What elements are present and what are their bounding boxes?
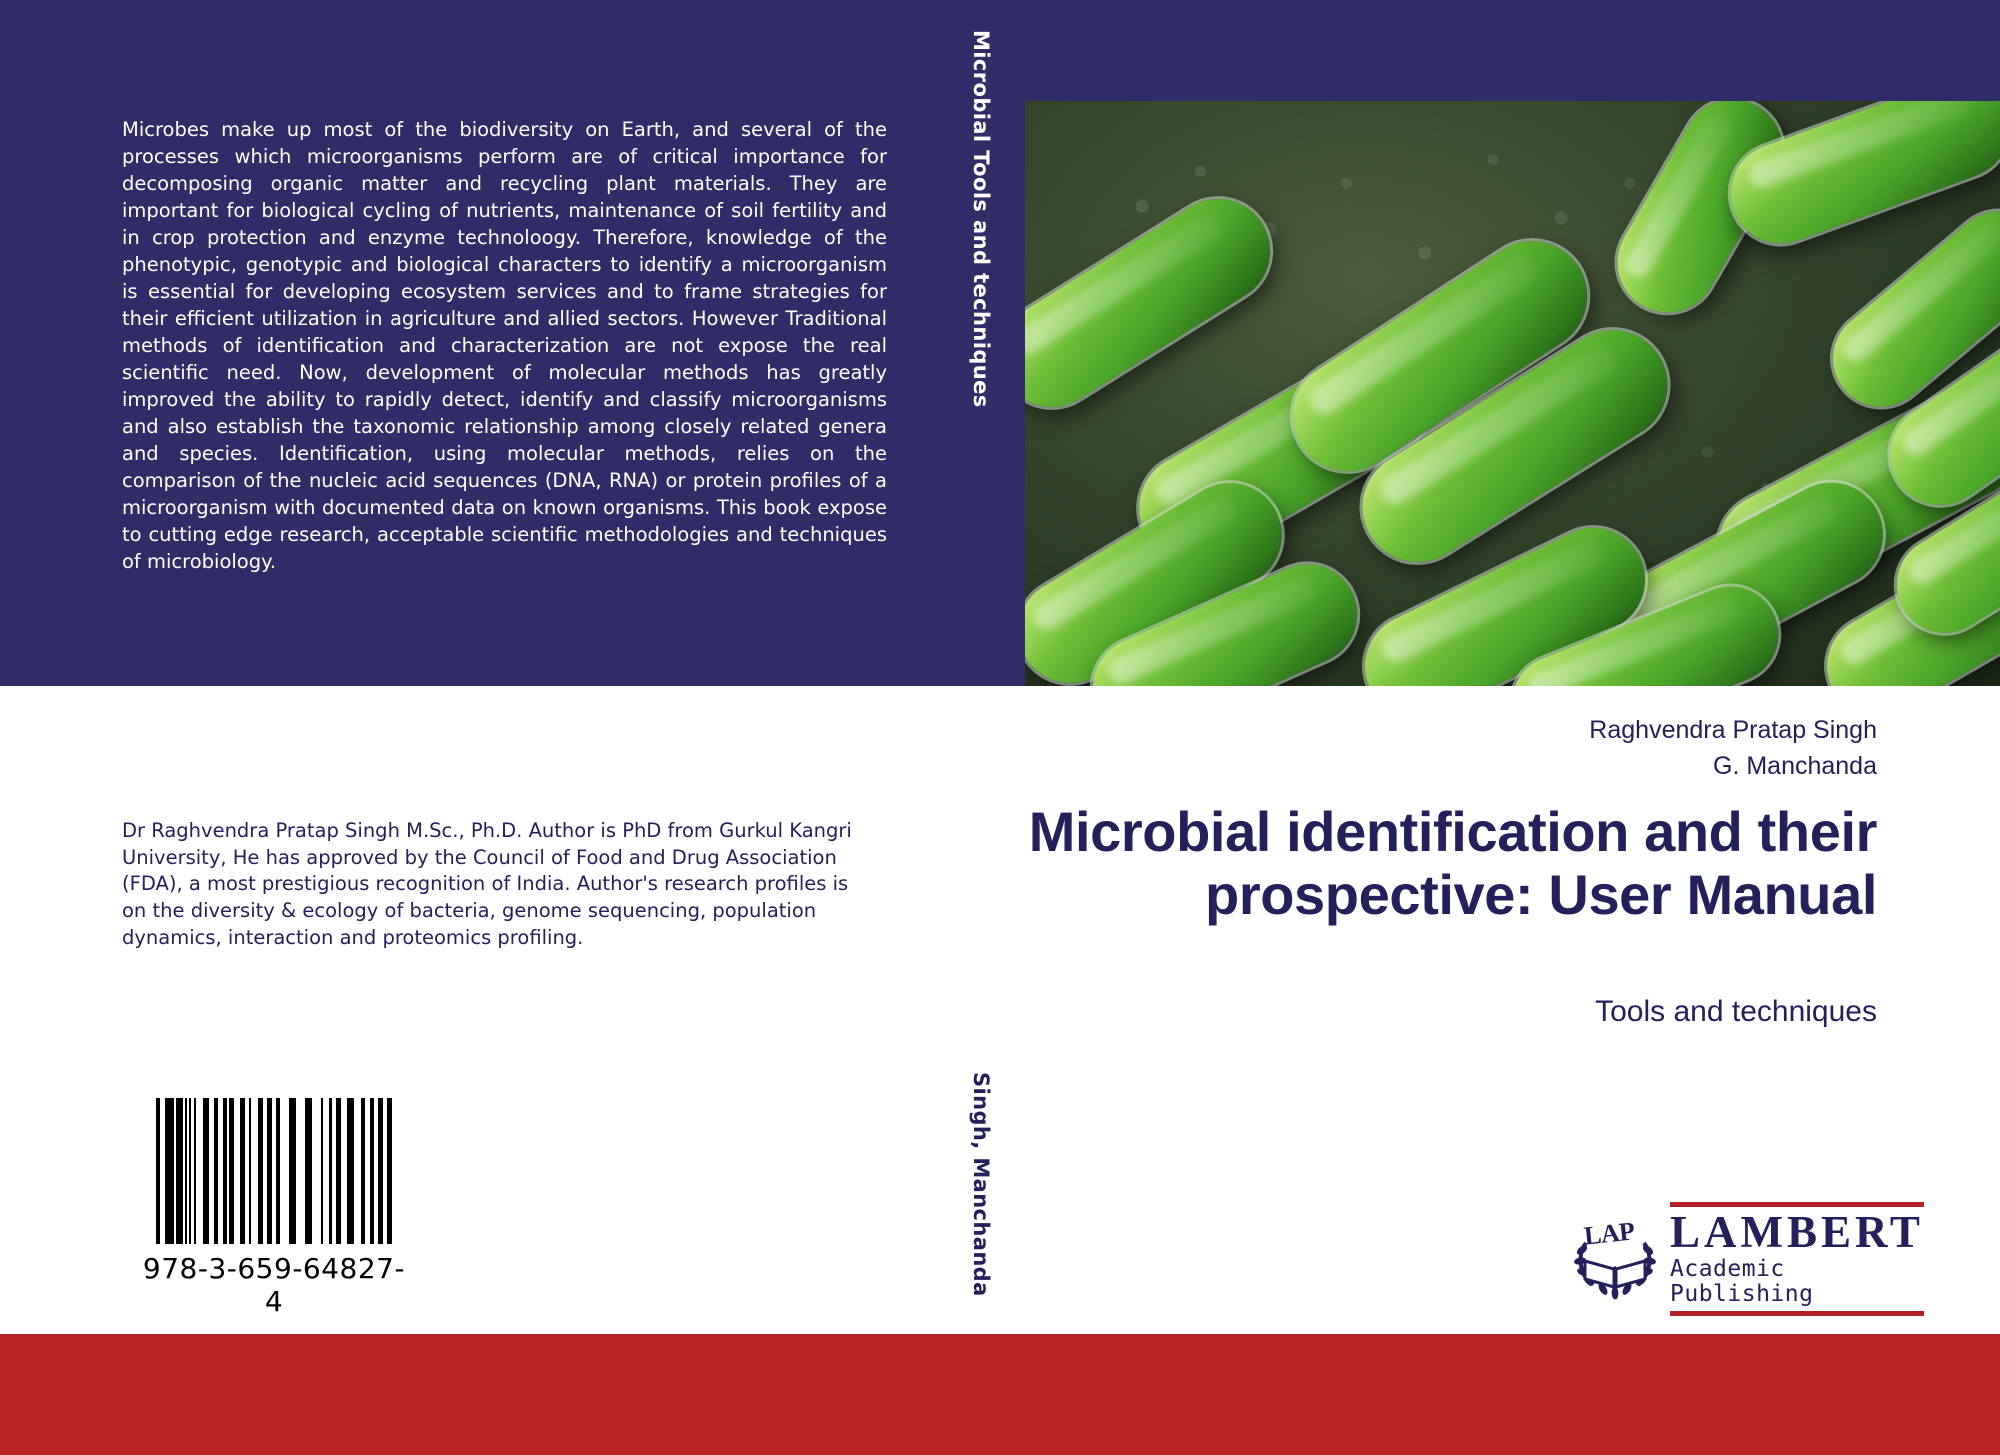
publisher-tagline: Academic Publishing xyxy=(1670,1257,1924,1308)
barcode-block: 978-3-659-64827-4 xyxy=(138,1098,428,1318)
logo-rule-bottom xyxy=(1670,1311,1924,1316)
front-cover-authors: Raghvendra Pratap Singh G. Manchanda xyxy=(997,712,1877,784)
lap-acronym: LAP xyxy=(1583,1216,1636,1251)
spine-title: Microbial Tools and techniques xyxy=(958,30,1004,460)
red-footer-band xyxy=(0,1334,2000,1455)
author-name-secondary: G. Manchanda xyxy=(997,748,1877,784)
publisher-logo: LAP xyxy=(1572,1215,1894,1303)
barcode-image xyxy=(138,1098,410,1244)
author-name-primary: Raghvendra Pratap Singh xyxy=(997,712,1877,748)
book-cover: Microbes make up most of the biodiversit… xyxy=(0,0,2000,1455)
cover-photo-bacteria xyxy=(1025,101,2000,686)
spine-authors: Singh, Manchanda xyxy=(958,1072,1004,1322)
back-cover-blurb: Microbes make up most of the biodiversit… xyxy=(122,116,887,575)
isbn-number: 978-3-659-64827-4 xyxy=(138,1252,410,1318)
author-biography: Dr Raghvendra Pratap Singh M.Sc., Ph.D. … xyxy=(122,818,862,952)
lap-emblem-icon: LAP xyxy=(1572,1217,1658,1301)
front-cover-subtitle: Tools and techniques xyxy=(997,995,1877,1029)
front-cover-title: Microbial identification and their prosp… xyxy=(997,800,1877,927)
publisher-name: LAMBERT xyxy=(1670,1210,1924,1256)
publisher-wordmark: LAMBERT Academic Publishing xyxy=(1670,1202,1924,1316)
